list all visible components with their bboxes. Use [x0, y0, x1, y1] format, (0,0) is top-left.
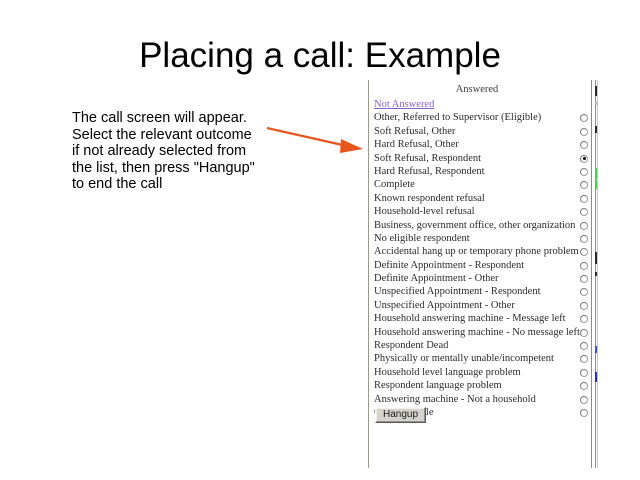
list-item[interactable]: No eligible respondent — [373, 232, 591, 245]
radio-button-selected[interactable] — [580, 155, 588, 163]
option-label: Household answering machine - Message le… — [374, 312, 566, 325]
radio-button[interactable] — [580, 248, 588, 256]
option-label: Definite Appointment - Respondent — [374, 259, 524, 272]
radio-button[interactable] — [580, 302, 588, 310]
option-label: Household-level refusal — [374, 205, 475, 218]
option-label: Known respondent refusal — [374, 192, 485, 205]
answered-column-header: Answered — [369, 84, 585, 95]
pixel-artifact — [595, 86, 597, 96]
list-item[interactable]: Household-level refusal — [373, 205, 591, 218]
adjacent-window-sliver — [592, 80, 640, 468]
list-item[interactable]: Respondent language problem — [373, 379, 591, 392]
radio-button[interactable] — [580, 114, 588, 122]
pixel-artifact — [595, 372, 597, 382]
list-item[interactable]: Hard Refusal, Respondent — [373, 165, 591, 178]
slide-canvas: Placing a call: Example The call screen … — [0, 0, 640, 480]
radio-button[interactable] — [580, 275, 588, 283]
list-item[interactable]: Answering machine - Not a household — [373, 393, 591, 406]
list-item[interactable]: Respondent Dead — [373, 339, 591, 352]
body-text-line: if not already selected from — [72, 143, 282, 160]
list-item[interactable]: Accidental hang up or temporary phone pr… — [373, 245, 591, 258]
list-item[interactable]: Physically or mentally unable/incompeten… — [373, 352, 591, 365]
radio-button[interactable] — [580, 382, 588, 390]
option-label: Soft Refusal, Respondent — [374, 152, 481, 165]
body-text-line: the list, then press "Hangup" — [72, 160, 282, 177]
option-label: Business, government office, other organ… — [374, 219, 575, 232]
option-label: No eligible respondent — [374, 232, 470, 245]
option-label: Accidental hang up or temporary phone pr… — [374, 245, 579, 258]
pixel-artifact — [595, 168, 597, 179]
option-label: Household level language problem — [374, 366, 521, 379]
radio-button[interactable] — [580, 128, 588, 136]
body-text-line: The call screen will appear. — [72, 110, 282, 127]
list-item[interactable]: Household level language problem — [373, 366, 591, 379]
pixel-artifact — [595, 180, 597, 189]
list-item[interactable]: Known respondent refusal — [373, 192, 591, 205]
list-item[interactable]: Other, Referred to Supervisor (Eligible) — [373, 111, 591, 124]
option-label: Hard Refusal, Respondent — [374, 165, 485, 178]
window-edge-line-highlight — [597, 80, 598, 468]
option-label: Other, Referred to Supervisor (Eligible) — [374, 111, 541, 124]
pixel-artifact — [595, 272, 597, 276]
body-text-line: to end the call — [72, 176, 282, 193]
list-item[interactable]: Unspecified Appointment - Other — [373, 299, 591, 312]
pixel-artifact — [595, 346, 597, 353]
radio-button[interactable] — [580, 396, 588, 404]
pixel-artifact — [595, 102, 597, 105]
list-item[interactable]: Complete — [373, 178, 591, 191]
list-item[interactable]: Household answering machine - Message le… — [373, 312, 591, 325]
body-text-line: Select the relevant outcome — [72, 127, 282, 144]
call-screen-window: Answered Not Answered Other, Referred to… — [368, 80, 592, 468]
hangup-button[interactable]: Hangup — [375, 407, 426, 423]
list-item[interactable]: Soft Refusal, Other — [373, 125, 591, 138]
radio-button[interactable] — [580, 329, 588, 337]
pixel-artifact — [595, 126, 597, 133]
option-label: Hard Refusal, Other — [374, 138, 459, 151]
radio-button[interactable] — [580, 168, 588, 176]
radio-button[interactable] — [580, 195, 588, 203]
list-item-selected[interactable]: Soft Refusal, Respondent — [373, 152, 591, 165]
list-item[interactable]: Household answering machine - No message… — [373, 326, 591, 339]
option-label: Household answering machine - No message… — [374, 326, 580, 339]
radio-button[interactable] — [580, 288, 588, 296]
option-label: Unspecified Appointment - Other — [374, 299, 515, 312]
option-label: Soft Refusal, Other — [374, 125, 455, 138]
option-label: Respondent Dead — [374, 339, 448, 352]
body-text-block: The call screen will appear. Select the … — [72, 110, 282, 193]
list-item[interactable]: Not Answered — [373, 98, 591, 111]
radio-button[interactable] — [580, 409, 588, 417]
option-label: Respondent language problem — [374, 379, 502, 392]
radio-button[interactable] — [580, 315, 588, 323]
list-item[interactable]: Business, government office, other organ… — [373, 219, 591, 232]
not-answered-link[interactable]: Not Answered — [374, 98, 434, 111]
radio-button[interactable] — [580, 141, 588, 149]
radio-button[interactable] — [580, 222, 588, 230]
list-item[interactable]: Definite Appointment - Respondent — [373, 259, 591, 272]
list-item[interactable]: Unspecified Appointment - Respondent — [373, 285, 591, 298]
radio-button[interactable] — [580, 369, 588, 377]
radio-button[interactable] — [580, 181, 588, 189]
radio-button[interactable] — [580, 235, 588, 243]
option-label: Complete — [374, 178, 415, 191]
option-label: Answering machine - Not a household — [374, 393, 536, 406]
radio-button[interactable] — [580, 342, 588, 350]
list-item[interactable]: Definite Appointment - Other — [373, 272, 591, 285]
option-label: Definite Appointment - Other — [374, 272, 499, 285]
option-label: Unspecified Appointment - Respondent — [374, 285, 541, 298]
outcome-option-list[interactable]: Not Answered Other, Referred to Supervis… — [373, 98, 591, 419]
page-title: Placing a call: Example — [0, 36, 640, 76]
radio-button[interactable] — [580, 262, 588, 270]
radio-button[interactable] — [580, 208, 588, 216]
pixel-artifact — [595, 252, 597, 264]
list-item[interactable]: Hard Refusal, Other — [373, 138, 591, 151]
radio-button[interactable] — [580, 355, 588, 363]
option-label: Physically or mentally unable/incompeten… — [374, 352, 554, 365]
